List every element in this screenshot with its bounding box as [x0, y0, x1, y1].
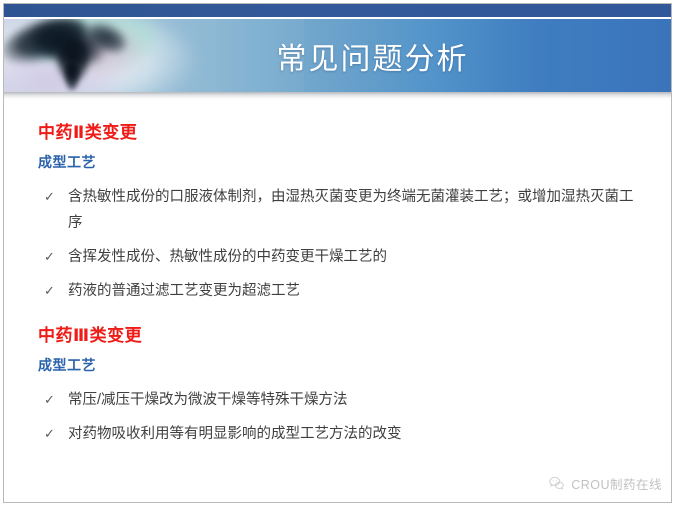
watermark: CROU制药在线 — [548, 474, 662, 493]
wechat-icon — [548, 475, 565, 492]
list-item-text: 含挥发性成份、热敏性成份的中药变更干燥工艺的 — [68, 249, 387, 265]
check-icon: ✓ — [44, 278, 55, 304]
list-item-text: 含热敏性成份的口服液体制剂，由湿热灭菌变更为终端无菌灌装工艺；或增加湿热灭菌工序 — [68, 189, 634, 231]
section-zhongyao-ii: 中药Ⅱ类变更 成型工艺 ✓ 含热敏性成份的口服液体制剂，由湿热灭菌变更为终端无菌… — [4, 118, 671, 304]
watermark-text: CROU制药在线 — [571, 474, 662, 493]
list-item-text: 常压/减压干燥改为微波干燥等特殊干燥方法 — [68, 392, 348, 408]
section-subheading: 成型工艺 — [4, 152, 671, 172]
slide-header: 常见问题分析 — [4, 4, 671, 94]
bullet-list: ✓ 常压/减压干燥改为微波干燥等特殊干燥方法 ✓ 对药物吸收利用等有明显影响的成… — [4, 387, 671, 447]
header-top-band — [4, 4, 671, 17]
list-item: ✓ 含挥发性成份、热敏性成份的中药变更干燥工艺的 — [4, 244, 671, 270]
list-item: ✓ 常压/减压干燥改为微波干燥等特殊干燥方法 — [4, 387, 671, 413]
section-subheading: 成型工艺 — [4, 355, 671, 375]
check-icon: ✓ — [44, 244, 55, 270]
header-banner: 常见问题分析 — [4, 19, 671, 92]
list-item-text: 药液的普通过滤工艺变更为超滤工艺 — [68, 283, 300, 299]
slide: 常见问题分析 中药Ⅱ类变更 成型工艺 ✓ 含热敏性成份的口服液体制剂，由湿热灭菌… — [0, 0, 676, 507]
section-heading: 中药Ⅲ类变更 — [4, 321, 671, 346]
slide-body: 中药Ⅱ类变更 成型工艺 ✓ 含热敏性成份的口服液体制剂，由湿热灭菌变更为终端无菌… — [4, 101, 671, 503]
check-icon: ✓ — [44, 421, 55, 447]
page-title: 常见问题分析 — [4, 19, 671, 92]
list-item: ✓ 对药物吸收利用等有明显影响的成型工艺方法的改变 — [4, 421, 671, 447]
bullet-list: ✓ 含热敏性成份的口服液体制剂，由湿热灭菌变更为终端无菌灌装工艺；或增加湿热灭菌… — [4, 184, 671, 304]
list-item-text: 对药物吸收利用等有明显影响的成型工艺方法的改变 — [68, 426, 402, 442]
list-item: ✓ 药液的普通过滤工艺变更为超滤工艺 — [4, 278, 671, 304]
check-icon: ✓ — [44, 184, 55, 210]
check-icon: ✓ — [44, 387, 55, 413]
section-zhongyao-iii: 中药Ⅲ类变更 成型工艺 ✓ 常压/减压干燥改为微波干燥等特殊干燥方法 ✓ 对药物… — [4, 321, 671, 447]
section-heading: 中药Ⅱ类变更 — [4, 118, 671, 143]
header-underline — [4, 92, 671, 93]
list-item: ✓ 含热敏性成份的口服液体制剂，由湿热灭菌变更为终端无菌灌装工艺；或增加湿热灭菌… — [4, 184, 671, 236]
